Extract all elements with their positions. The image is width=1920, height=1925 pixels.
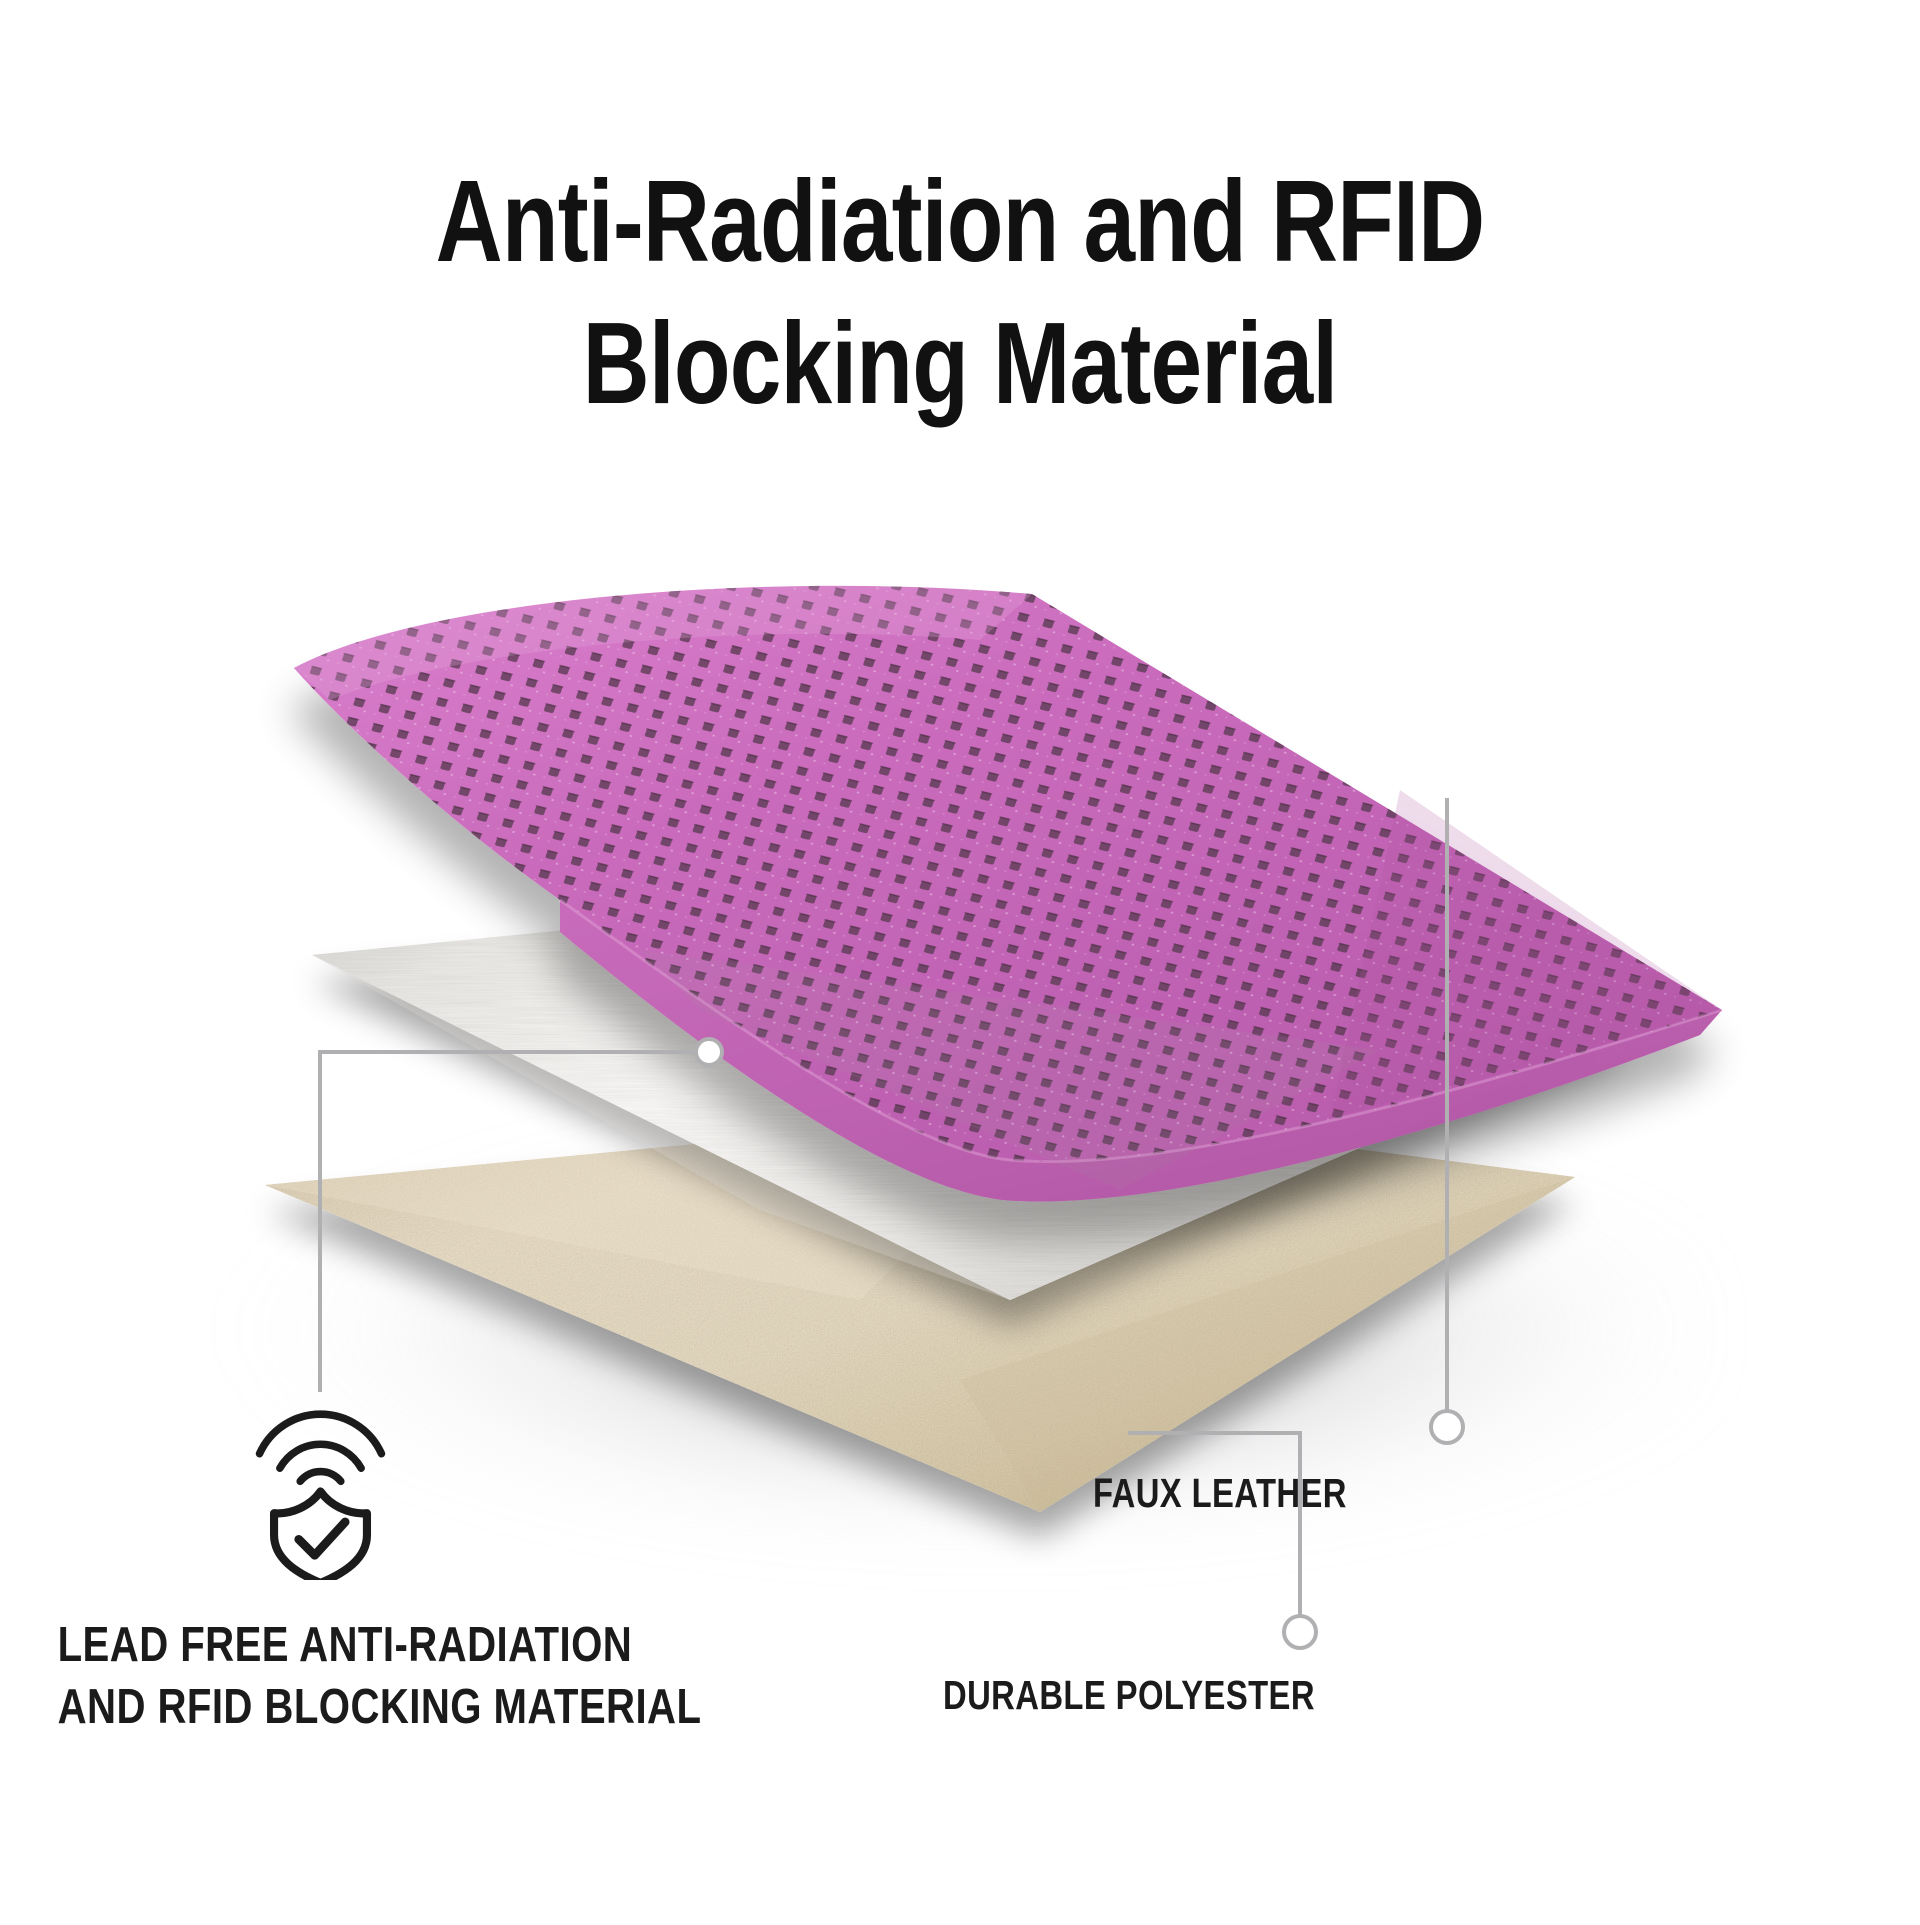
check-icon xyxy=(298,1522,344,1555)
callout-label-durable-polyester: DURABLE POLYESTER xyxy=(943,1672,1315,1718)
callout-anti-radiation-feature: LEAD FREE ANTI-RADIATION AND RFID BLOCKI… xyxy=(0,1400,640,1738)
product-infographic: Anti-Radiation and RFID Blocking Materia… xyxy=(0,0,1920,1920)
callout-label-anti-radiation-line-2: AND RFID BLOCKING MATERIAL xyxy=(58,1676,583,1738)
callout-label-anti-radiation-line-1: LEAD FREE ANTI-RADIATION xyxy=(58,1614,583,1676)
callout-label-faux-leather: FAUX LEATHER xyxy=(1093,1470,1347,1516)
page-title-line-1: Anti-Radiation and RFID xyxy=(192,150,1728,292)
shield-check-signal-icon xyxy=(233,1400,408,1580)
signal-waves-icon xyxy=(259,1414,381,1481)
page-title-line-2: Blocking Material xyxy=(192,292,1728,434)
page-title: Anti-Radiation and RFID Blocking Materia… xyxy=(0,150,1920,434)
shield-icon xyxy=(274,1491,367,1580)
